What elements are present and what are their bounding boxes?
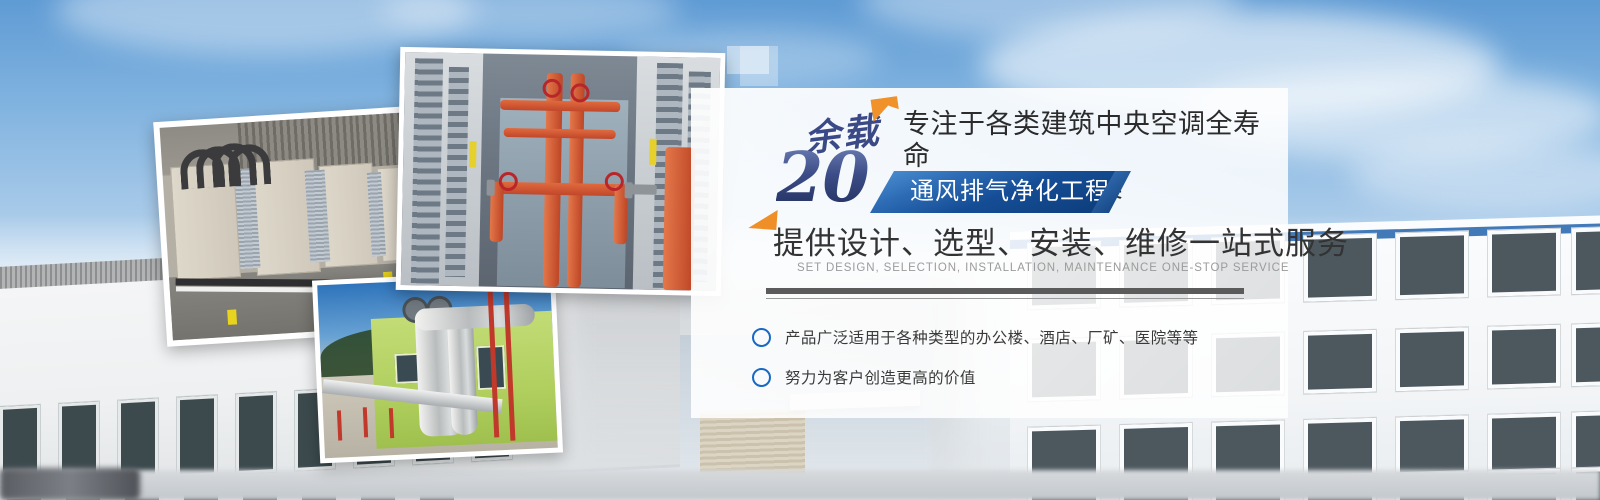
ground-strip [0, 470, 1600, 500]
list-item: 努力为客户创造更高的价值 [752, 357, 1252, 397]
ribbon-banner: 通风排气净化工程 [860, 171, 1160, 213]
window [1488, 325, 1560, 389]
photo-rooftop-insulated-ducting [312, 270, 563, 464]
parked-cars [0, 468, 140, 500]
list-item-label: 产品广泛适用于各种类型的办公楼、酒店、厂矿、医院等等 [785, 326, 1198, 348]
window [236, 392, 276, 474]
list-item: 产品广泛适用于各种类型的办公楼、酒店、厂矿、医院等等 [752, 317, 1252, 357]
photo-chiller-plant-pipework [396, 47, 726, 296]
bullet-list: 产品广泛适用于各种类型的办公楼、酒店、厂矿、医院等等 努力为客户创造更高的价值 [752, 317, 1252, 397]
sub-service-line-english: SET DESIGN, SELECTION, INSTALLATION, MAI… [797, 262, 1289, 274]
window [1488, 413, 1560, 475]
circle-bullet-icon [752, 328, 771, 347]
ribbon-body: 通风排气净化工程 [870, 171, 1115, 213]
promo-banner: 余载 20 专注于各类建筑中央空调全寿命 周期整体解决方案 通风排气净化工程 提… [0, 0, 1600, 500]
window [1572, 322, 1600, 386]
ribbon-label: 通风排气净化工程 [910, 175, 1110, 209]
divider-thin [766, 298, 1244, 299]
window [1488, 229, 1560, 297]
window [1396, 327, 1468, 391]
window [1304, 330, 1376, 394]
window [177, 395, 217, 477]
divider-thick [766, 288, 1244, 294]
headline-line-1: 专注于各类建筑中央空调全寿命 [903, 108, 1283, 172]
window [1572, 226, 1600, 294]
window [1572, 410, 1600, 472]
years-number: 20 [776, 144, 869, 212]
decorative-square [740, 46, 778, 86]
list-item-label: 努力为客户创造更高的价值 [785, 366, 976, 388]
main-service-line: 提供设计、选型、安装、维修一站式服务 [773, 225, 1349, 263]
circle-bullet-icon [752, 368, 771, 387]
window [1396, 415, 1468, 477]
window [1396, 231, 1468, 299]
